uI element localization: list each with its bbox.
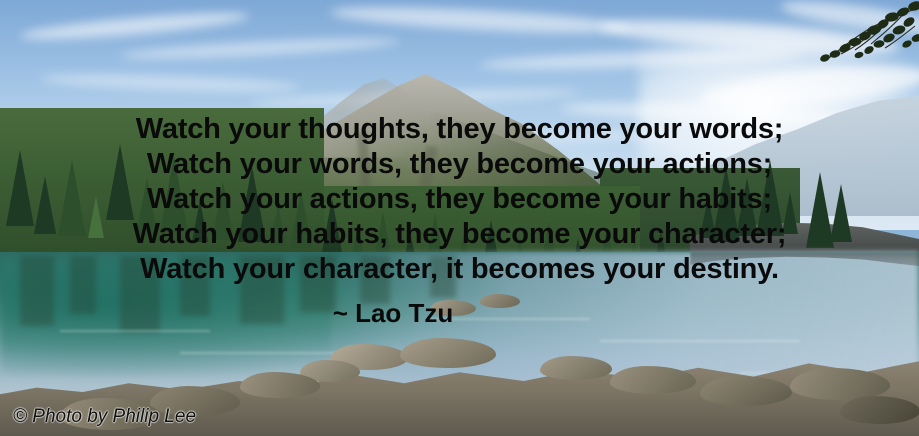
quote-line-2: Watch your words, they become your actio… <box>0 147 919 182</box>
quote-line-1: Watch your thoughts, they become your wo… <box>0 112 919 147</box>
shore-rock <box>610 366 696 394</box>
quote-text: Watch your thoughts, they become your wo… <box>0 112 919 287</box>
quote-photo-card: Watch your thoughts, they become your wo… <box>0 0 919 436</box>
photo-credit: © Photo by Philip Lee <box>13 406 196 428</box>
quote-line-4: Watch your habits, they become your char… <box>0 217 919 252</box>
water-ripple <box>600 340 800 342</box>
quote-attribution: ~ Lao Tzu <box>0 297 919 329</box>
shore-rock <box>240 372 320 398</box>
quote-line-5: Watch your character, it becomes your de… <box>0 252 919 287</box>
shore-rock <box>840 396 919 424</box>
shore-rock <box>470 348 540 372</box>
shore-rock <box>540 356 612 380</box>
shore-rock <box>700 376 792 406</box>
water-ripple <box>60 330 210 332</box>
overhanging-branch-icon <box>779 0 919 110</box>
quote-line-3: Watch your actions, they become your hab… <box>0 182 919 217</box>
